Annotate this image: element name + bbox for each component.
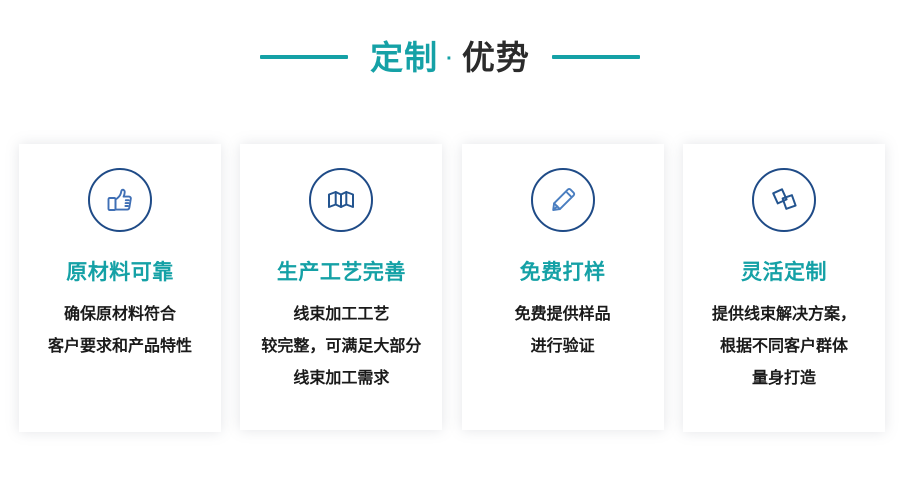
icon-circle-4: [752, 168, 816, 232]
card-description: 提供线束解决方案， 根据不同客户群体 量身打造: [689, 299, 879, 395]
pencil-icon: [546, 183, 580, 217]
stacked-cards-icon: [767, 183, 801, 217]
card-description-line: 线束加工工艺: [246, 299, 436, 331]
card-description: 确保原材料符合 客户要求和产品特性: [25, 299, 215, 363]
title-separator-dot: ·: [446, 49, 454, 69]
folded-map-icon: [324, 183, 358, 217]
card-description-line: 量身打造: [689, 363, 879, 395]
title-accent-text: 定制: [370, 41, 438, 74]
feature-card-production-process[interactable]: 生产工艺完善 线束加工工艺 较完整，可满足大部分 线束加工需求: [240, 144, 442, 430]
feature-card-raw-material[interactable]: 原材料可靠 确保原材料符合 客户要求和产品特性: [19, 144, 221, 432]
card-description-line: 根据不同客户群体: [689, 331, 879, 363]
icon-circle-1: [88, 168, 152, 232]
feature-card-flexible-customization[interactable]: 灵活定制 提供线束解决方案， 根据不同客户群体 量身打造: [683, 144, 885, 432]
title-rule-right: [552, 55, 640, 59]
feature-card-list: 原材料可靠 确保原材料符合 客户要求和产品特性 生产工艺完善: [19, 144, 885, 434]
card-description-line: 确保原材料符合: [25, 299, 215, 331]
section-title: 定制 · 优势: [0, 34, 900, 80]
page-title: 定制 · 优势: [370, 41, 530, 74]
card-description: 免费提供样品 进行验证: [468, 299, 658, 363]
feature-card-free-sample[interactable]: 免费打样 免费提供样品 进行验证: [462, 144, 664, 430]
thumbs-up-icon: [103, 183, 137, 217]
title-main-text: 优势: [462, 41, 530, 74]
card-title: 灵活定制: [741, 260, 827, 285]
card-description-line: 进行验证: [468, 331, 658, 363]
card-title: 生产工艺完善: [277, 260, 406, 285]
page-root: 定制 · 优势 原材料可靠 确保原: [0, 0, 900, 499]
card-description: 线束加工工艺 较完整，可满足大部分 线束加工需求: [246, 299, 436, 395]
title-rule-left: [260, 55, 348, 59]
card-description-line: 线束加工需求: [246, 363, 436, 395]
card-description-line: 提供线束解决方案，: [689, 299, 879, 331]
card-title: 原材料可靠: [66, 260, 174, 285]
icon-circle-3: [531, 168, 595, 232]
card-description-line: 较完整，可满足大部分: [246, 331, 436, 363]
icon-circle-2: [309, 168, 373, 232]
card-description-line: 免费提供样品: [468, 299, 658, 331]
card-description-line: 客户要求和产品特性: [25, 331, 215, 363]
card-title: 免费打样: [520, 260, 606, 285]
